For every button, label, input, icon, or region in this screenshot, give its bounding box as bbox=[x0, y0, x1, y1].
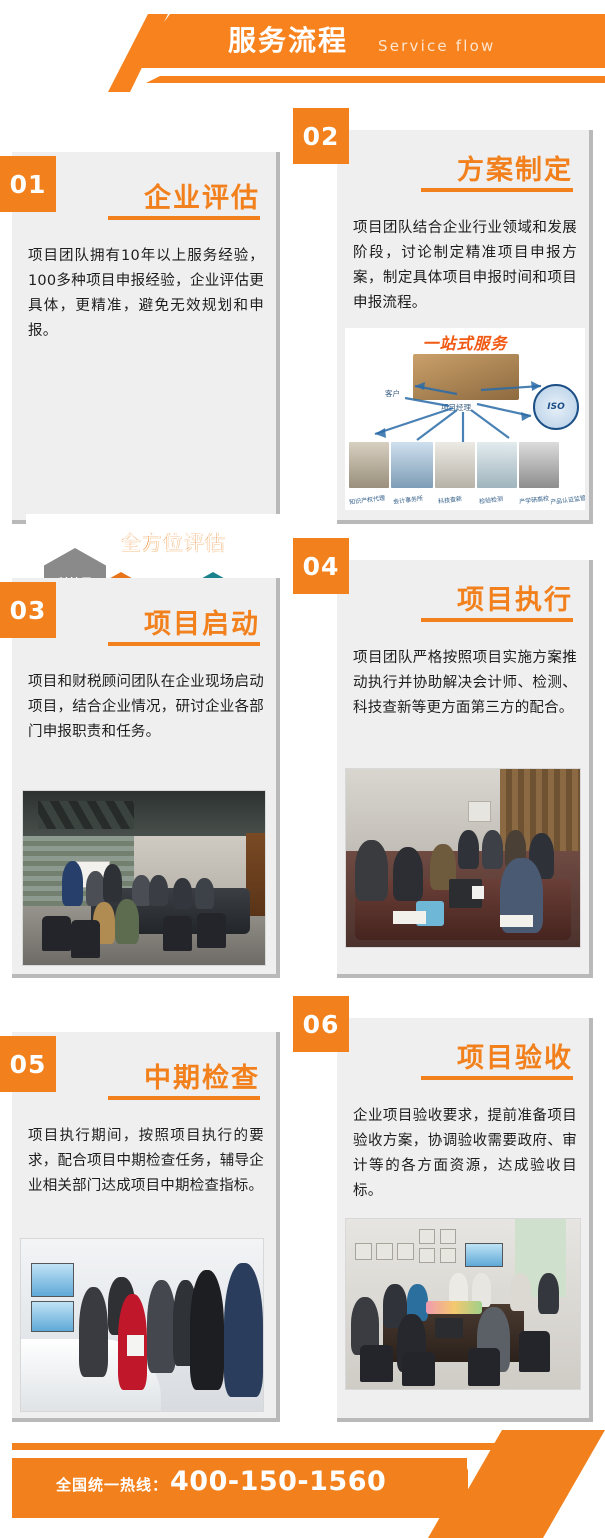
site-visit-photo bbox=[20, 1238, 264, 1412]
process-card-04: 项目执行 项目团队严格按照项目实施方案推动执行并协助解决会计师、检测、科技查新等… bbox=[337, 560, 593, 978]
process-card-06: 项目验收 企业项目验收要求，提前准备项目验收方案，协调验收需要政府、审计等的各方… bbox=[337, 1018, 593, 1422]
card-body-02: 项目团队结合企业行业领域和发展阶段，讨论制定精准项目申报方案，制定具体项目申报时… bbox=[353, 216, 577, 316]
certification-seal-icon: ISO bbox=[533, 384, 579, 430]
header-underline-rule bbox=[146, 76, 605, 83]
card-title-03: 项目启动 bbox=[144, 602, 260, 641]
card-badge-05: 05 bbox=[0, 1036, 56, 1092]
card-badge-04: 04 bbox=[293, 538, 349, 594]
card-body-04: 项目团队严格按照项目实施方案推动执行并协助解决会计师、检测、科技查新等更方面第三… bbox=[353, 646, 577, 721]
card-title-04: 项目执行 bbox=[457, 578, 573, 617]
card-title-rule-06 bbox=[421, 1076, 573, 1080]
page-title: 服务流程 bbox=[228, 18, 348, 64]
card-badge-03: 03 bbox=[0, 582, 56, 638]
page-footer: 全国统一热线： 400-150-1560 bbox=[0, 1416, 605, 1538]
card-badge-02: 02 bbox=[293, 108, 349, 164]
page-subtitle: Service flow bbox=[378, 30, 496, 62]
working-session-photo bbox=[345, 768, 581, 948]
footer-stripe bbox=[12, 1443, 457, 1450]
hexagon-diagram-title: 全方位评估 bbox=[120, 526, 225, 555]
hotline-number[interactable]: 400-150-1560 bbox=[170, 1466, 386, 1497]
card-body-01: 项目团队拥有10年以上服务经验，100多种项目申报经验，企业评估更具体，更精准，… bbox=[28, 244, 264, 344]
one-stop-thumb-2 bbox=[391, 442, 433, 488]
card-body-03: 项目和财税顾问团队在企业现场启动项目，结合企业情况，研讨企业各部门申报职责和任务… bbox=[28, 670, 264, 745]
card-title-05: 中期检查 bbox=[144, 1056, 260, 1095]
card-title-02: 方案制定 bbox=[457, 148, 573, 187]
card-title-06: 项目验收 bbox=[457, 1036, 573, 1075]
acceptance-meeting-photo bbox=[345, 1218, 581, 1390]
page-header: 服务流程 Service flow bbox=[0, 0, 605, 108]
card-body-06: 企业项目验收要求，提前准备项目验收方案，协调验收需要政府、审计等的各方面资源，达… bbox=[353, 1104, 577, 1204]
card-title-rule-01 bbox=[108, 216, 260, 220]
hotline-label: 全国统一热线： bbox=[56, 1474, 168, 1495]
header-banner bbox=[130, 14, 605, 68]
card-badge-01: 01 bbox=[0, 156, 56, 212]
one-stop-thumb-3 bbox=[435, 442, 475, 488]
process-card-03: 项目启动 项目和财税顾问团队在企业现场启动项目，结合企业情况，研讨企业各部门申报… bbox=[12, 578, 280, 978]
card-title-rule-03 bbox=[108, 642, 260, 646]
one-stop-thumb-4 bbox=[477, 442, 517, 488]
card-title-rule-02 bbox=[421, 188, 573, 192]
card-body-05: 项目执行期间，按照项目执行的要求，配合项目中期检查任务，辅导企业相关部门达成项目… bbox=[28, 1124, 264, 1199]
one-stop-thumb-5 bbox=[519, 442, 559, 488]
process-card-02: 方案制定 项目团队结合企业行业领域和发展阶段，讨论制定精准项目申报方案，制定具体… bbox=[337, 130, 593, 524]
one-stop-thumb-1 bbox=[349, 442, 389, 488]
meeting-room-photo bbox=[22, 790, 266, 966]
card-title-rule-04 bbox=[421, 618, 573, 622]
card-title-01: 企业评估 bbox=[144, 176, 260, 215]
one-stop-service-diagram: 一站式服务 客户 项目经理 ISO 知识产权代理 会计事务所 科 bbox=[345, 328, 585, 510]
card-title-rule-05 bbox=[108, 1096, 260, 1100]
card-badge-06: 06 bbox=[293, 996, 349, 1052]
